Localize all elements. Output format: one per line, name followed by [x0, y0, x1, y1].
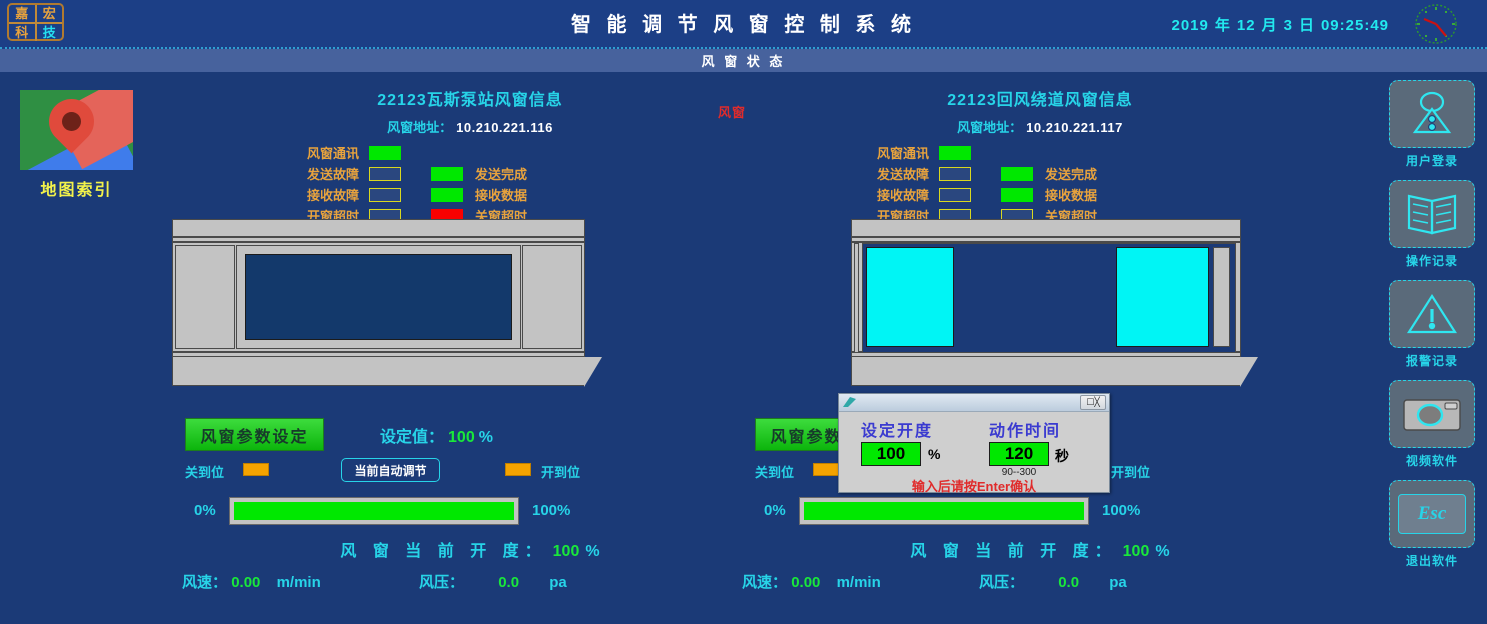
progress-row-left: 0% 100% [160, 497, 780, 525]
sidebar-label-exit: 退出软件 [1377, 552, 1487, 569]
closed-position-led [243, 463, 269, 476]
sidebar: 用户登录 操作记录 报警记录 [1377, 80, 1487, 580]
current-opening-unit: % [585, 543, 599, 560]
status-strip: 风 窗 状 态 [0, 49, 1487, 72]
analog-clock-icon [1413, 3, 1459, 45]
measurements-left: 风速： 0.00 m/min 风压： 0.0 pa [160, 571, 780, 591]
led-row: 接收故障 接收数据 [285, 184, 655, 205]
led-recv-data [431, 188, 463, 202]
window-leaf-open-left [866, 247, 954, 347]
camera-icon [1401, 394, 1463, 434]
wind-speed-label: 风速： [742, 574, 787, 591]
wind-pressure-value: 0.0 [498, 574, 519, 591]
window-post-right [522, 245, 582, 349]
wind-speed-value: 0.00 [791, 574, 820, 591]
current-opening-label: 风 窗 当 前 开 度： [340, 543, 546, 560]
window-graphic-left [172, 219, 585, 387]
current-opening-right: 风 窗 当 前 开 度：100% [730, 537, 1350, 561]
wind-pressure-left: 风压： 0.0 pa [419, 571, 567, 592]
led-send-done [1001, 167, 1033, 181]
alarm-log-button[interactable] [1389, 280, 1475, 348]
setpoint-display-left: 设定值：100% [380, 423, 493, 447]
sidebar-label-user-login: 用户登录 [1377, 152, 1487, 169]
wind-speed-value: 0.00 [231, 574, 260, 591]
map-marker-hole [58, 108, 85, 135]
progress-row-right: 0% 100% [730, 497, 1350, 525]
panel-left-title: 22123瓦斯泵站风窗信息 [160, 86, 780, 110]
panel-right-title: 22123回风绕道风窗信息 [730, 86, 1350, 110]
wind-speed-label: 风速： [182, 574, 227, 591]
wind-pressure-label: 风压： [979, 574, 1024, 591]
closed-position-label: 关到位 [185, 462, 224, 481]
sidebar-item-operation-log[interactable]: 操作记录 [1377, 180, 1487, 269]
date-month: 12 [1237, 17, 1256, 34]
date-year: 2019 [1172, 17, 1209, 34]
setpoint-value: 100 [448, 429, 475, 446]
operation-log-button[interactable] [1389, 180, 1475, 248]
param-set-button-left[interactable]: 风窗参数设定 [185, 418, 324, 451]
video-software-button[interactable] [1389, 380, 1475, 448]
window-post-left [175, 245, 235, 349]
wind-pressure-label: 风压： [419, 574, 464, 591]
dialog-opening-label: 设定开度 [861, 417, 933, 441]
led-send-fault [369, 167, 401, 181]
position-row-left: 关到位 当前自动调节 开到位 [160, 460, 780, 480]
closed-position-led [813, 463, 839, 476]
led-recv-fault [369, 188, 401, 202]
parameter-dialog[interactable]: ☐╳ 设定开度 动作时间 100 % 120 秒 90--300 输入后请按En… [838, 393, 1110, 493]
progress-fill [234, 502, 514, 520]
warning-triangle-icon [1406, 292, 1458, 336]
wind-speed-unit: m/min [277, 574, 321, 591]
sidebar-item-user-login[interactable]: 用户登录 [1377, 80, 1487, 169]
current-opening-value: 100 [553, 543, 580, 560]
sidebar-item-alarm-log[interactable]: 报警记录 [1377, 280, 1487, 369]
open-position-label: 开到位 [541, 462, 580, 481]
panel-right: 22123回风绕道风窗信息 风窗地址：10.210.221.117 风窗通讯 发… [730, 86, 1350, 226]
panel-left-address: 风窗地址：10.210.221.116 [160, 117, 780, 136]
wind-speed-unit: m/min [837, 574, 881, 591]
led-label-recv-fault: 接收故障 [285, 185, 359, 204]
led-comm [939, 146, 971, 160]
panel-right-address-label: 风窗地址： [957, 120, 1022, 135]
sidebar-label-operation-log: 操作记录 [1377, 252, 1487, 269]
led-row: 发送故障 发送完成 [285, 163, 655, 184]
led-label-recv-data: 接收数据 [475, 185, 527, 204]
exit-button[interactable]: Esc [1389, 480, 1475, 548]
led-send-fault [939, 167, 971, 181]
dialog-title-bar[interactable]: ☐╳ [839, 394, 1109, 412]
window-opening [862, 243, 1236, 353]
wind-speed-left: 风速： 0.00 m/min [182, 571, 321, 592]
book-icon [1404, 192, 1460, 236]
sidebar-item-video-software[interactable]: 视频软件 [1377, 380, 1487, 469]
panel-left-address-label: 风窗地址： [387, 120, 452, 135]
led-recv-fault [939, 188, 971, 202]
led-label-send-fault: 发送故障 [285, 164, 359, 183]
esc-icon: Esc [1398, 494, 1466, 534]
led-label-recv-fault: 接收故障 [855, 185, 929, 204]
window-lintel [172, 219, 585, 237]
closed-position-label: 关到位 [755, 462, 794, 481]
window-leaf-open-right [1116, 247, 1209, 347]
window-rail-left [854, 243, 859, 353]
close-icon[interactable]: ☐╳ [1080, 395, 1106, 410]
current-opening-unit: % [1155, 543, 1169, 560]
window-lintel [851, 219, 1241, 237]
dialog-time-unit: 秒 [1055, 446, 1069, 466]
bar-max-label: 100% [1102, 502, 1140, 519]
sidebar-label-video-software: 视频软件 [1377, 452, 1487, 469]
dialog-app-icon [843, 397, 856, 408]
led-send-done [431, 167, 463, 181]
open-position-led [505, 463, 531, 476]
user-icon [1406, 91, 1458, 137]
window-base [172, 356, 585, 386]
wind-speed-right: 风速： 0.00 m/min [742, 571, 881, 592]
window-glass-closed [245, 254, 512, 340]
dialog-time-label: 动作时间 [989, 417, 1061, 441]
bar-min-label: 0% [194, 502, 216, 519]
date-day-unit: 日 [1299, 17, 1315, 34]
sidebar-label-alarm-log: 报警记录 [1377, 352, 1487, 369]
window-jamb-right [1213, 247, 1230, 347]
clock-time: 09:25:49 [1321, 17, 1389, 34]
progress-fill [804, 502, 1084, 520]
panel-right-address-value: 10.210.221.117 [1026, 120, 1123, 135]
led-label-send-fault: 发送故障 [855, 164, 929, 183]
user-login-button[interactable] [1389, 80, 1475, 148]
date-day: 3 [1284, 17, 1293, 34]
window-graphic-right [851, 219, 1241, 387]
current-opening-label: 风 窗 当 前 开 度： [910, 543, 1116, 560]
wind-pressure-value: 0.0 [1058, 574, 1079, 591]
current-opening-value: 100 [1123, 543, 1150, 560]
window-base-ramp [1240, 357, 1258, 387]
bar-min-label: 0% [764, 502, 786, 519]
led-row: 风窗通讯 [855, 142, 1225, 163]
panel-left-led-table: 风窗通讯 发送故障 发送完成 接收故障 接收数据 开窗超时 关窗超时 [285, 142, 655, 226]
setpoint-label: 设定值： [380, 429, 444, 446]
dialog-time-input[interactable]: 120 [989, 442, 1049, 466]
auto-mode-indicator-left[interactable]: 当前自动调节 [341, 458, 440, 482]
dialog-hint: 输入后请按Enter确认 [839, 476, 1109, 495]
bar-max-label: 100% [532, 502, 570, 519]
panel-right-led-table: 风窗通讯 发送故障 发送完成 接收故障 接收数据 开窗超时 关窗超时 [855, 142, 1225, 226]
led-row: 接收故障 接收数据 [855, 184, 1225, 205]
window-base [851, 356, 1241, 386]
panel-left-address-value: 10.210.221.116 [456, 120, 553, 135]
window-frame [236, 245, 521, 349]
sidebar-item-exit[interactable]: Esc 退出软件 [1377, 480, 1487, 569]
led-label-send-done: 发送完成 [475, 164, 527, 183]
led-label-recv-data: 接收数据 [1045, 185, 1097, 204]
panel-left: 22123瓦斯泵站风窗信息 风窗地址：10.210.221.116 风窗通讯 发… [160, 86, 780, 226]
panel-right-address: 风窗地址：10.210.221.117 [730, 117, 1350, 136]
dialog-body: 设定开度 动作时间 100 % 120 秒 90--300 输入后请按Enter… [839, 412, 1109, 494]
wind-pressure-unit: pa [549, 574, 567, 591]
status-strip-text: 风 窗 状 态 [702, 51, 786, 70]
led-row: 风窗通讯 [285, 142, 655, 163]
led-label-comm: 风窗通讯 [855, 143, 929, 162]
setpoint-unit: % [479, 429, 493, 446]
date-month-unit: 月 [1262, 17, 1278, 34]
wind-pressure-unit: pa [1109, 574, 1127, 591]
led-row: 发送故障 发送完成 [855, 163, 1225, 184]
dialog-opening-unit: % [928, 446, 940, 462]
led-label-comm: 风窗通讯 [285, 143, 359, 162]
open-position-label: 开到位 [1111, 462, 1150, 481]
wind-pressure-right: 风压： 0.0 pa [979, 571, 1127, 592]
date-year-unit: 年 [1215, 17, 1231, 34]
led-comm [369, 146, 401, 160]
dialog-opening-input[interactable]: 100 [861, 442, 921, 466]
map-index-button[interactable]: 地图索引 [20, 90, 133, 200]
map-index-label: 地图索引 [20, 176, 133, 200]
opening-progress-bar-left[interactable] [229, 497, 519, 525]
datetime-display: 2019年12月3日09:25:49 [1169, 14, 1393, 35]
current-opening-left: 风 窗 当 前 开 度：100% [160, 537, 780, 561]
opening-progress-bar-right[interactable] [799, 497, 1089, 525]
map-pin-icon [20, 90, 133, 170]
led-recv-data [1001, 188, 1033, 202]
window-base-ramp [584, 357, 602, 387]
top-bar: 嘉 宏 科 技 智 能 调 节 风 窗 控 制 系 统 2019年12月3日09… [0, 0, 1487, 49]
measurements-right: 风速： 0.00 m/min 风压： 0.0 pa [730, 571, 1350, 591]
led-label-send-done: 发送完成 [1045, 164, 1097, 183]
